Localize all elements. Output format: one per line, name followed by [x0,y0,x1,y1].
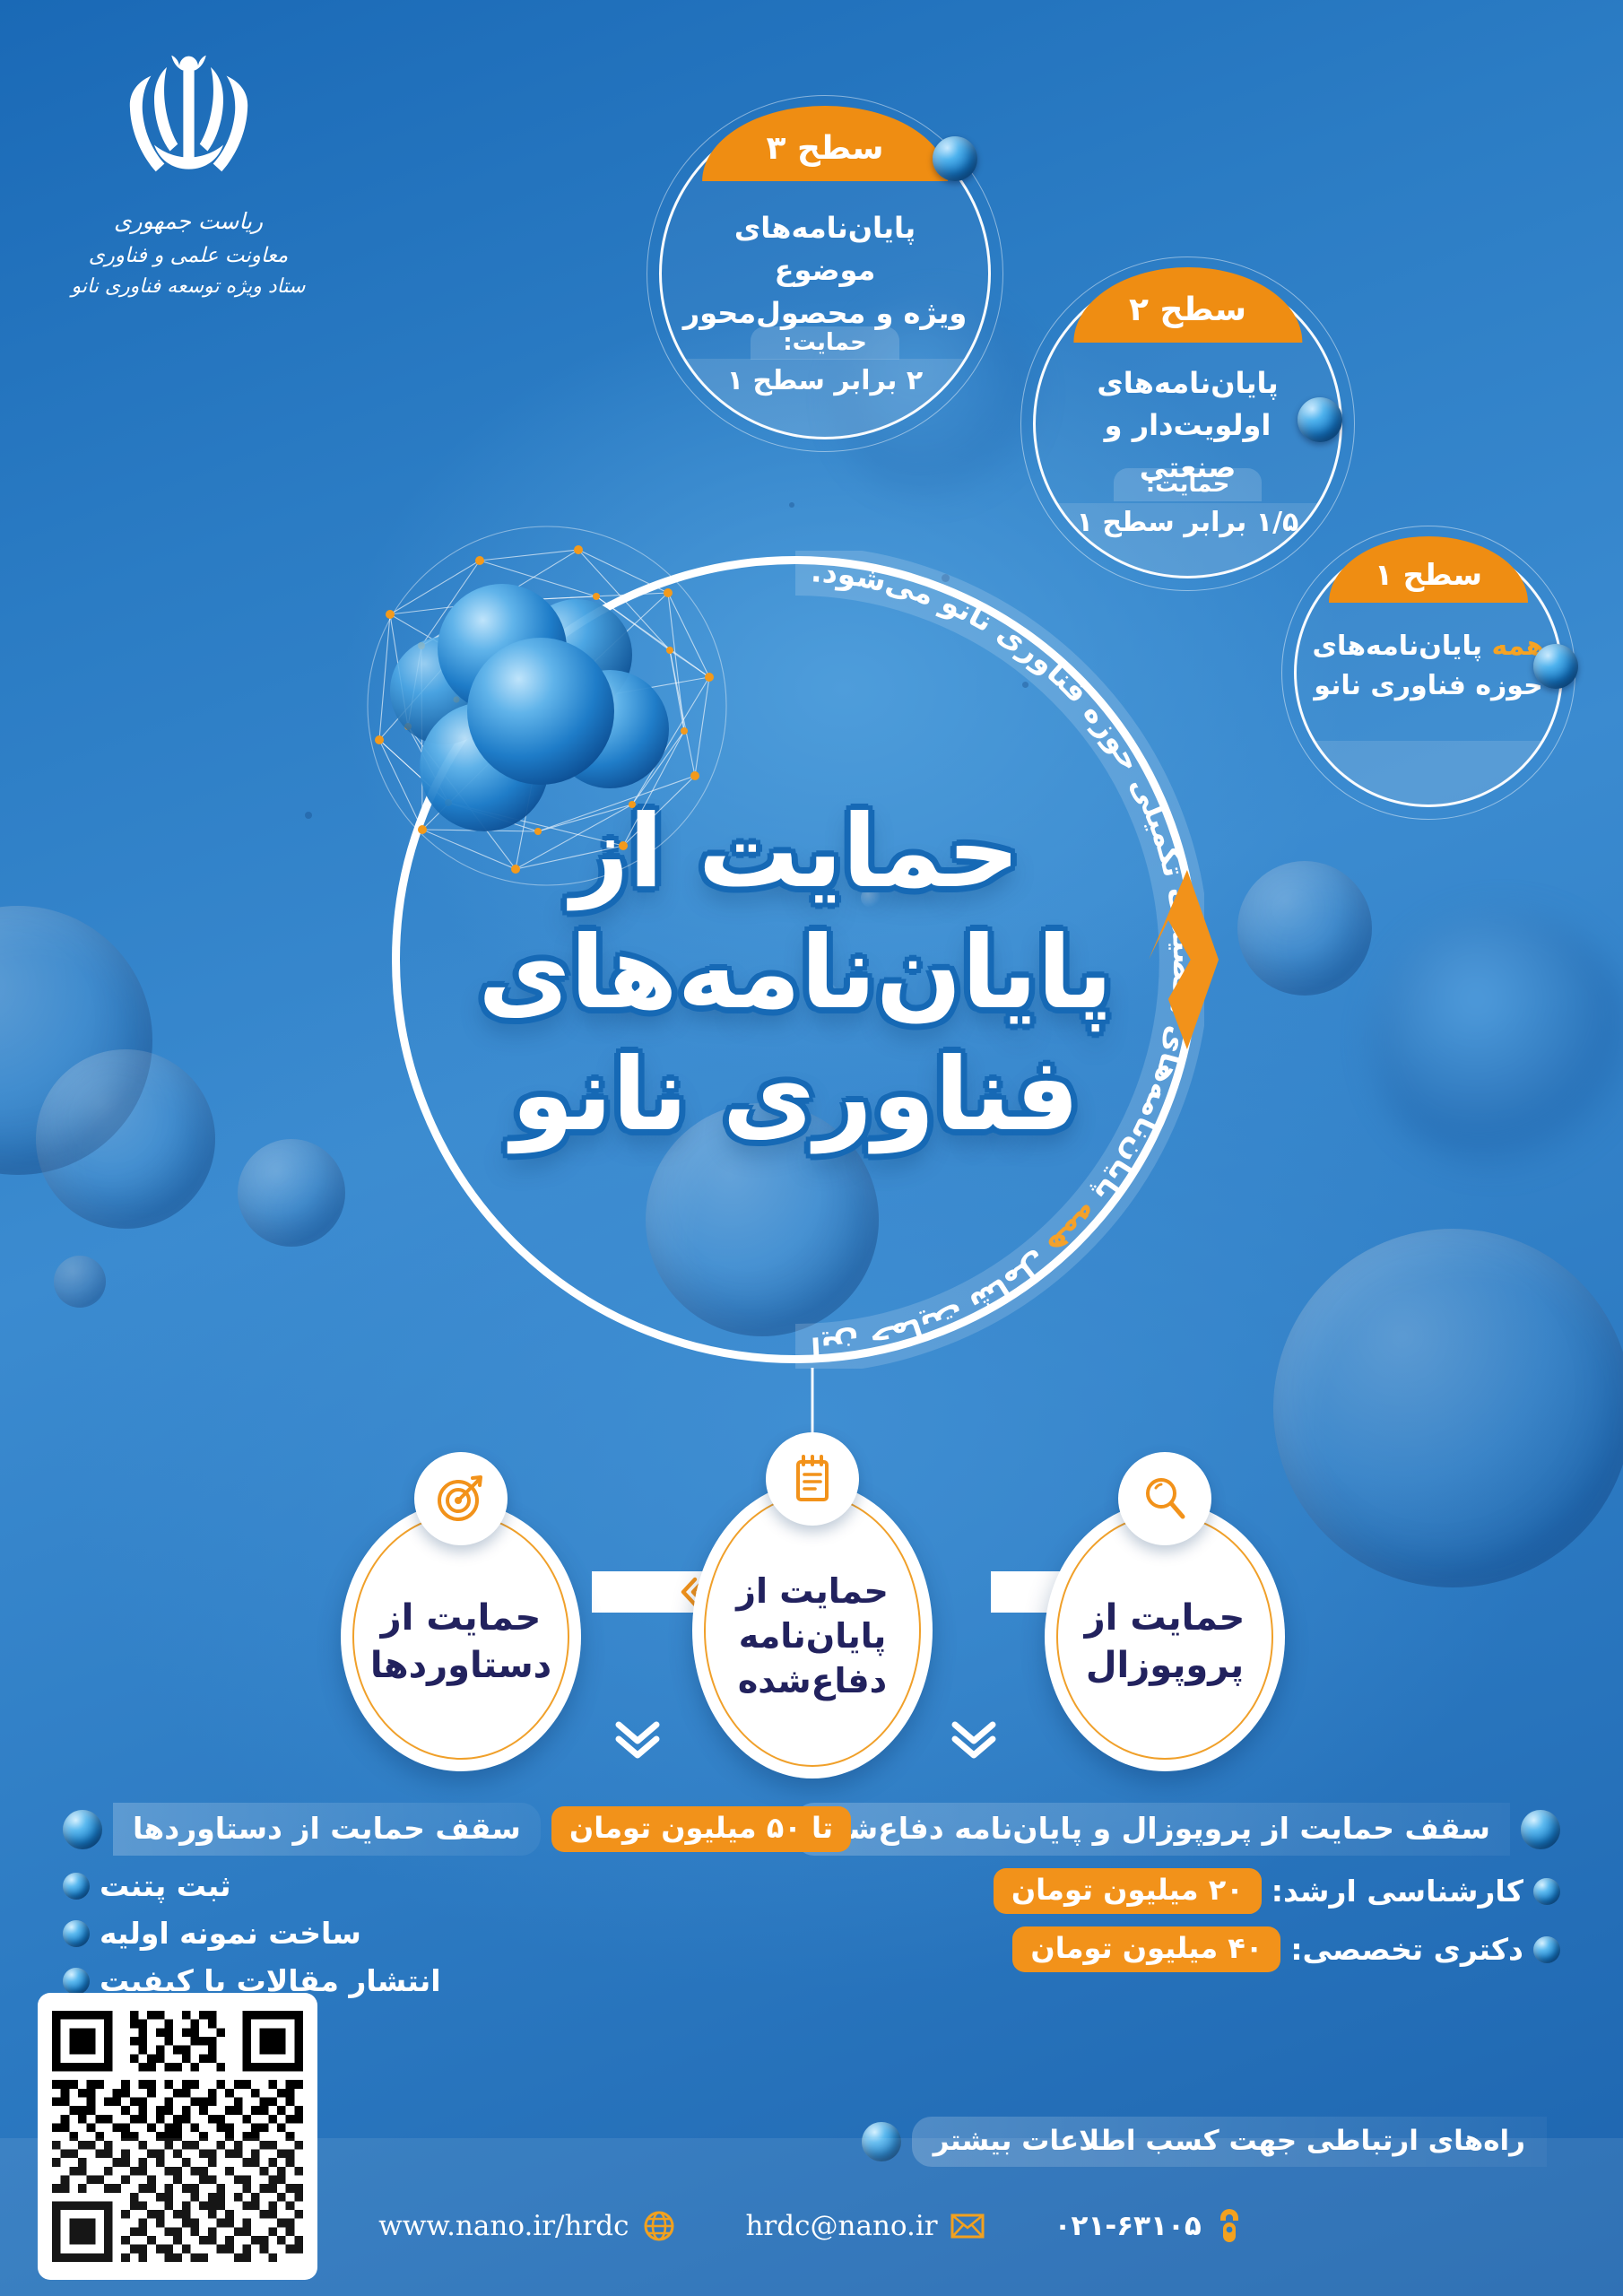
level-badge-label: سطح ۱ [1375,557,1482,592]
fact-row: ثبت پتنت [63,1868,771,1903]
facts-heading: سقف حمایت از دستاوردها [113,1803,541,1856]
poster-root: ریاست جمهوری معاونت علمی و فناوری ستاد و… [0,0,1623,2296]
footer-website[interactable]: www.nano.ir/hrdc [378,2209,675,2243]
level-title-highlight: همه [1491,631,1544,662]
notepad-icon [786,1451,838,1507]
facts-heading: سقف حمایت از پروپوزال و پایان‌نامه دفاع‌… [794,1803,1510,1856]
globe-icon [642,2209,676,2243]
bullet-orb-icon [1533,1878,1560,1905]
footer-phone-text: ۰۲۱-۶۳۱۰۵ [1055,2210,1202,2242]
bullet-orb-icon [1521,1810,1560,1849]
org-line-1: ریاست جمهوری [58,204,318,239]
level-title-line1: پایان‌نامه‌های موضوع [679,207,971,292]
nano-cluster-icon [336,507,758,915]
bubble [238,1139,345,1247]
fact-label: ثبت پتنت [100,1868,231,1903]
bullet-orb-icon [1533,1936,1560,1963]
title-line-3: فناوری نانو [392,1039,1199,1152]
bullet-orb-icon [63,1810,102,1849]
step-label-line2: دستاوردها [370,1642,551,1690]
process-step-defended-thesis[interactable]: حمایت از پایان‌نامه دفاع‌شده [692,1483,933,1779]
level-card-3[interactable]: سطح ۳ پایان‌نامه‌های موضوع ویژه و محصول‌… [659,108,991,439]
bubble [0,906,152,1175]
org-logo: ریاست جمهوری معاونت علمی و فناوری ستاد و… [58,41,318,303]
iran-emblem-icon [110,41,267,198]
facts-column-proposal: سقف حمایت از پروپوزال و پایان‌نامه دفاع‌… [879,1803,1560,1972]
telephone-icon [1214,2208,1245,2244]
process-step-label: حمایت از دستاوردها [354,1584,568,1690]
level-support-label: حمایت: [751,326,899,360]
fact-label: دکتری تخصصی: [1290,1932,1523,1967]
level-support-label: حمایت: [1114,468,1263,501]
level-title-line1: پایان‌نامه‌های [1052,362,1324,404]
process-step-label: حمایت از پروپوزال [1069,1584,1262,1690]
step-label-line2: پروپوزال [1085,1642,1245,1690]
step-label-line1: حمایت از [1085,1595,1245,1642]
fact-label: ساخت نمونه اولیه [100,1916,361,1951]
chevron-down-icon [610,1718,665,1764]
level-card-2[interactable]: سطح ۲ پایان‌نامه‌های اولویت‌دار و صنعتی … [1033,269,1342,578]
level-card-1[interactable]: سطح ۱ همه پایان‌نامه‌های حوزه فناوری نان… [1294,538,1563,807]
target-icon-wrap [414,1452,508,1545]
footer-phone[interactable]: ۰۲۱-۶۳۱۰۵ [1055,2208,1245,2244]
chevron-down-icon [946,1718,1002,1764]
bullet-orb-icon [63,1968,90,1995]
level-title-rest: پایان‌نامه‌های [1312,631,1482,662]
process-step-achievements[interactable]: حمایت از دستاوردها [341,1502,581,1771]
facts-heading-row: سقف حمایت از پروپوزال و پایان‌نامه دفاع‌… [879,1803,1560,1856]
dot [305,812,312,819]
level-title-1: همه پایان‌نامه‌های حوزه فناوری نانو [1310,627,1547,707]
step-label-line2: پایان‌نامه [736,1613,889,1658]
title-line-2: پایان‌نامه‌های [392,918,1199,1030]
org-line-3: ستاد ویژه توسعه فناوری نانو [58,272,318,303]
bullet-orb-icon [63,1920,90,1947]
bubble [1372,910,1623,1170]
notepad-icon-wrap [766,1432,859,1526]
facts-heading-row: تا ۵۰ میلیون تومان سقف حمایت از دستاورده… [63,1803,771,1856]
bullet-orb-icon [63,1873,90,1900]
footer-links: www.nano.ir/hrdc hrdc@nano.ir ۰۲۱-۶۳۱۰۵ [0,2208,1623,2244]
process-step-label: حمایت از پایان‌نامه دفاع‌شده [720,1558,905,1703]
level-title-line2: حوزه فناوری نانو [1310,666,1547,706]
level-support-2: حمایت: ۱/۵ برابر سطح ۱ [1033,468,1342,538]
level-title-3: پایان‌نامه‌های موضوع ویژه و محصول‌محور [679,207,971,335]
envelope-icon [950,2213,985,2239]
target-icon [433,1471,489,1526]
level-title-line1: همه پایان‌نامه‌های [1310,627,1547,666]
level-support-value: ۱/۵ برابر سطح ۱ [1033,507,1342,538]
level-badge-label: سطح ۲ [1129,291,1246,328]
fact-row: ساخت نمونه اولیه [63,1916,771,1951]
fact-label: کارشناسی ارشد: [1271,1874,1523,1909]
level-support-value: ۲ برابر سطح ۱ [659,365,991,396]
org-logo-text: ریاست جمهوری معاونت علمی و فناوری ستاد و… [58,204,318,303]
footer-website-text: www.nano.ir/hrdc [378,2210,629,2242]
fact-row: دکتری تخصصی: ۴۰ میلیون تومان [879,1926,1560,1972]
facts-amount: تا ۵۰ میلیون تومان [551,1806,851,1852]
step-label-line3: دفاع‌شده [736,1658,889,1703]
footer-email-text: hrdc@nano.ir [746,2210,938,2242]
level-badge-label: سطح ۳ [767,130,884,167]
step-label-line1: حمایت از [736,1569,889,1613]
fact-row: کارشناسی ارشد: ۲۰ میلیون تومان [879,1868,1560,1914]
level-support-3: حمایت: ۲ برابر سطح ۱ [659,326,991,396]
magnifier-icon [1138,1472,1192,1526]
fact-amount: ۲۰ میلیون تومان [994,1868,1262,1914]
process-flow: حمایت از پروپوزال حمایت از پایان‌نامه دف… [0,1457,1623,1753]
bubble [36,1049,215,1229]
magnifier-icon-wrap [1118,1452,1211,1545]
org-line-2: معاونت علمی و فناوری [58,239,318,272]
process-step-proposal[interactable]: حمایت از پروپوزال [1045,1502,1285,1771]
fact-amount: ۴۰ میلیون تومان [1012,1926,1280,1972]
step-label-line1: حمایت از [370,1595,551,1642]
bubble [1237,861,1372,996]
facts-column-achievements: تا ۵۰ میلیون تومان سقف حمایت از دستاورده… [63,1803,771,1998]
bubble [54,1256,106,1308]
dot [789,502,794,508]
footer-email[interactable]: hrdc@nano.ir [746,2210,985,2242]
